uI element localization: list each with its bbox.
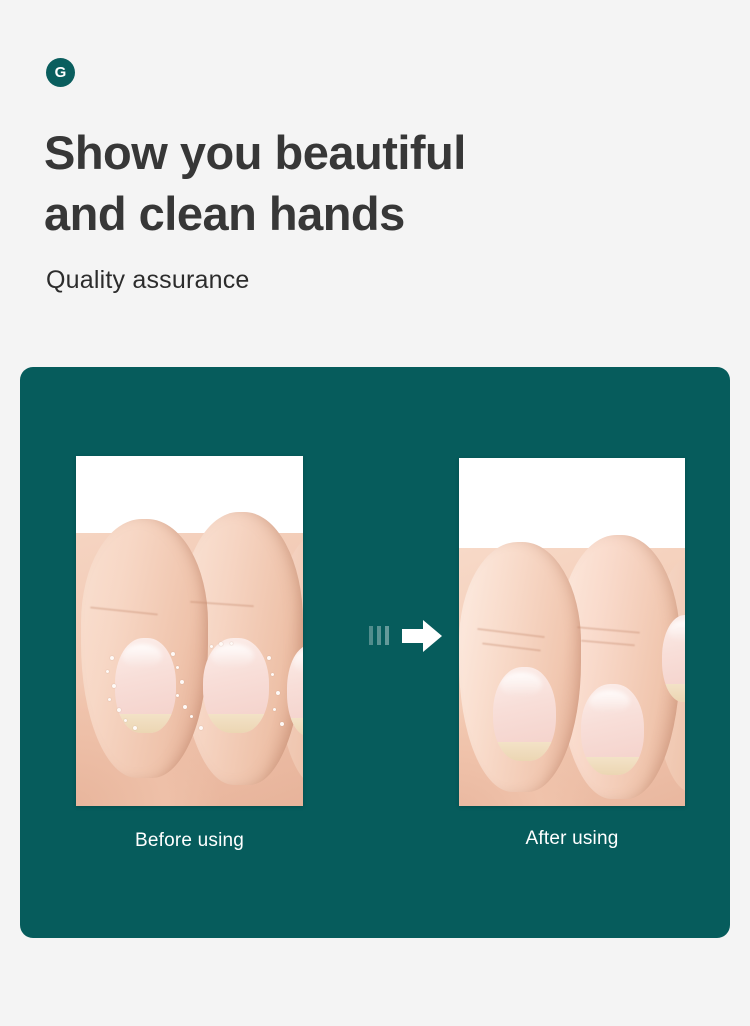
after-hand-illustration (459, 458, 685, 806)
before-after-panel: Before using After using (20, 367, 730, 938)
after-nail-right (662, 615, 685, 702)
after-nail-left (493, 667, 556, 761)
brand-badge-icon: G (46, 58, 75, 87)
before-caption: Before using (76, 830, 303, 852)
before-hand-illustration (76, 456, 303, 806)
after-photo-card (459, 458, 685, 806)
nail-shine (500, 672, 542, 696)
after-photo (459, 458, 685, 806)
after-nail-middle (581, 684, 644, 774)
before-photo (76, 456, 303, 806)
page-title-line-2: and clean hands (44, 183, 644, 244)
motion-bars-icon (369, 626, 389, 645)
before-photo-card (76, 456, 303, 806)
page-subtitle: Quality assurance (46, 266, 250, 295)
before-ragged-cuticles (76, 456, 303, 806)
after-caption: After using (459, 828, 685, 850)
page-title-line-1: Show you beautiful (44, 122, 644, 183)
header-section: G Show you beautiful and clean hands Qua… (0, 0, 750, 367)
transition-indicator (350, 616, 450, 656)
right-arrow-icon (402, 620, 442, 657)
page-title: Show you beautiful and clean hands (44, 122, 644, 244)
